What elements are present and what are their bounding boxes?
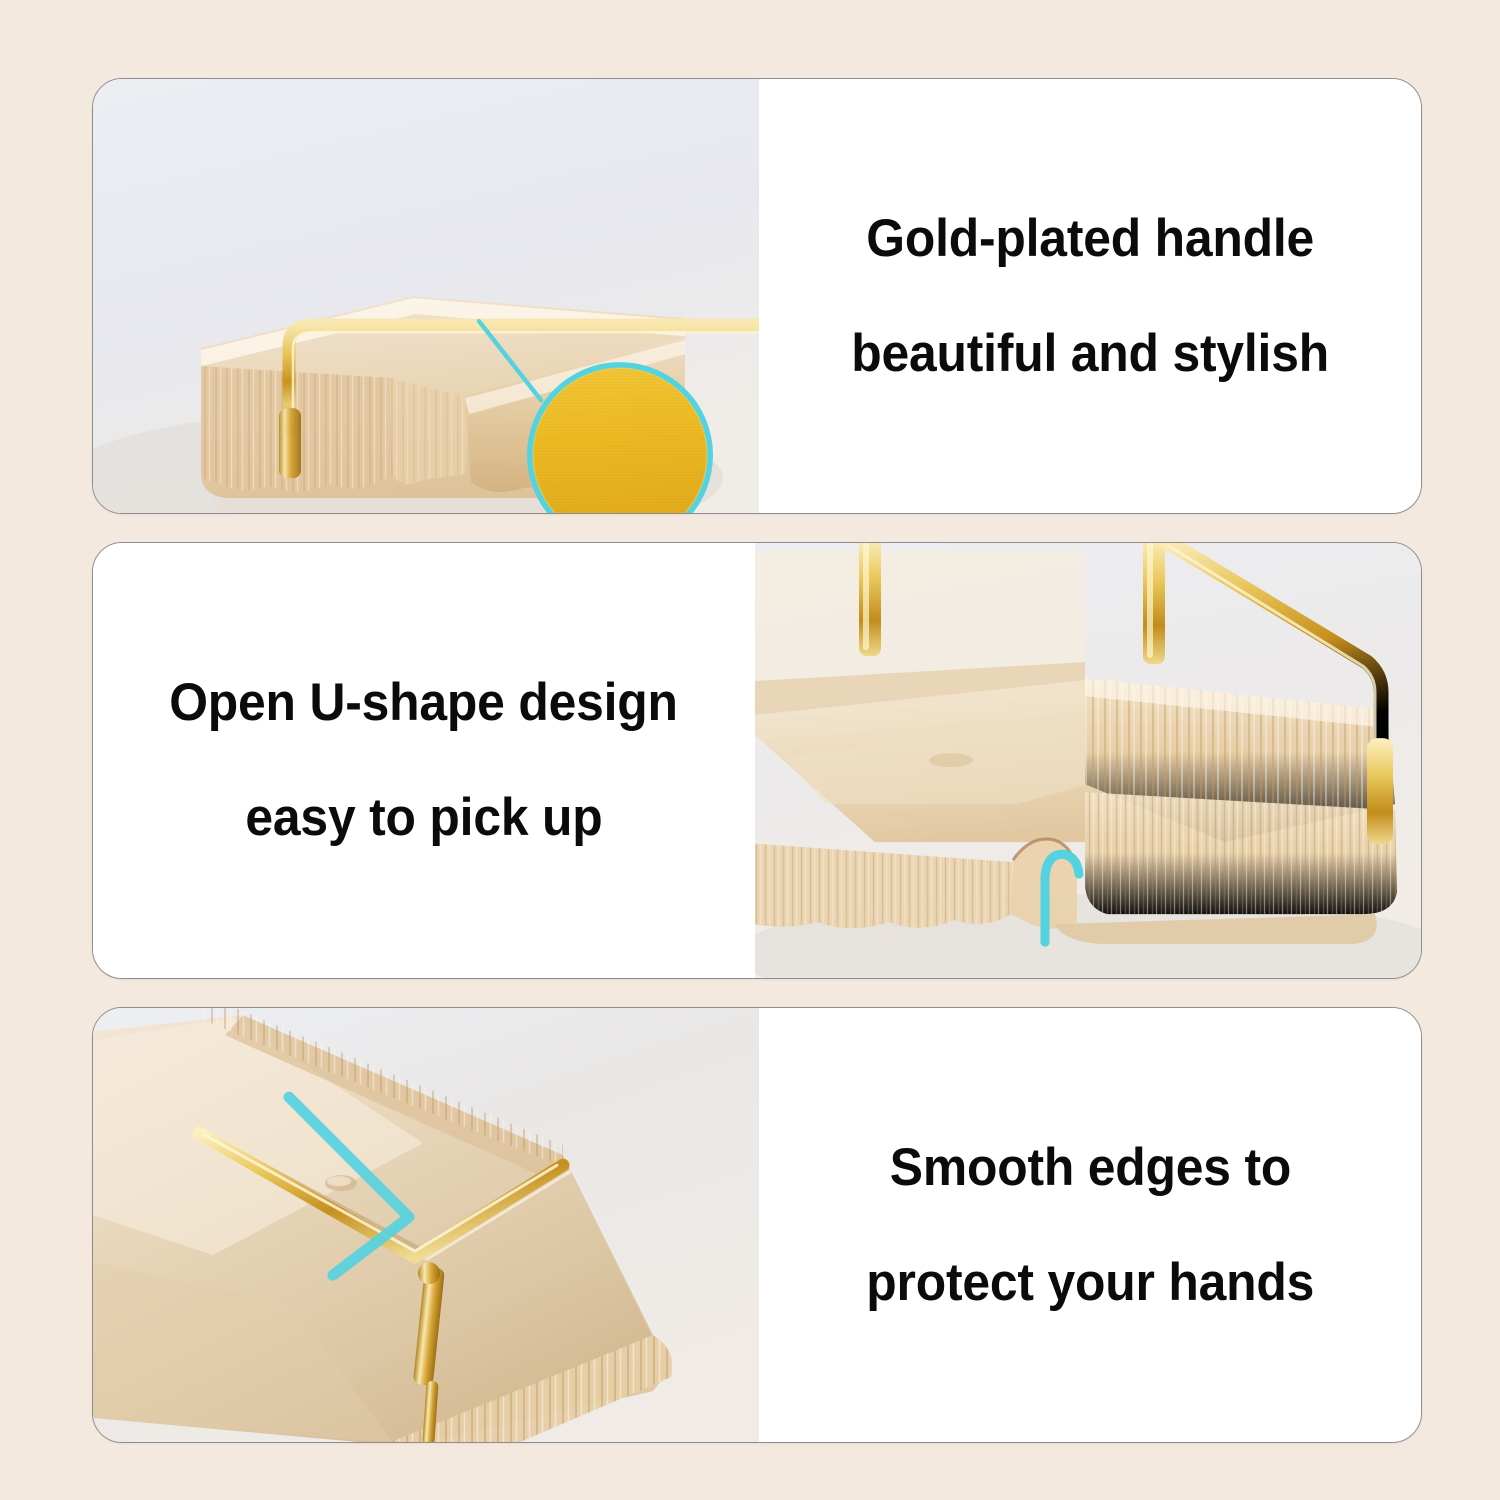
caption-smooth-edges: Smooth edges to protect your hands bbox=[759, 1008, 1421, 1442]
smooth-corner-scene bbox=[93, 1008, 759, 1442]
caption-line-1: Open U-shape design bbox=[170, 676, 679, 729]
feature-card-smooth-edges: Smooth edges to protect your hands bbox=[92, 1007, 1422, 1443]
caption-line-2: easy to pick up bbox=[245, 791, 602, 844]
caption-gold-plated-handle: Gold-plated handle beautiful and stylish bbox=[759, 79, 1421, 513]
caption-line-1: Smooth edges to bbox=[889, 1141, 1290, 1194]
feature-card-open-u-shape-design: Open U-shape design easy to pick up bbox=[92, 542, 1422, 978]
gold-handle-scene bbox=[93, 79, 759, 513]
caption-line-2: beautiful and stylish bbox=[851, 327, 1329, 380]
caption-open-u-shape-design: Open U-shape design easy to pick up bbox=[93, 543, 755, 977]
product-feature-infographic: Gold-plated handle beautiful and stylish bbox=[0, 0, 1500, 1500]
photo-gold-handle-closeup bbox=[93, 79, 759, 513]
u-shape-scene bbox=[755, 543, 1421, 977]
caption-line-1: Gold-plated handle bbox=[866, 212, 1314, 265]
feature-card-gold-plated-handle: Gold-plated handle beautiful and stylish bbox=[92, 78, 1422, 514]
photo-smooth-corner-closeup bbox=[93, 1008, 759, 1442]
photo-u-shape-notch-closeup bbox=[755, 543, 1421, 977]
caption-line-2: protect your hands bbox=[866, 1256, 1314, 1309]
